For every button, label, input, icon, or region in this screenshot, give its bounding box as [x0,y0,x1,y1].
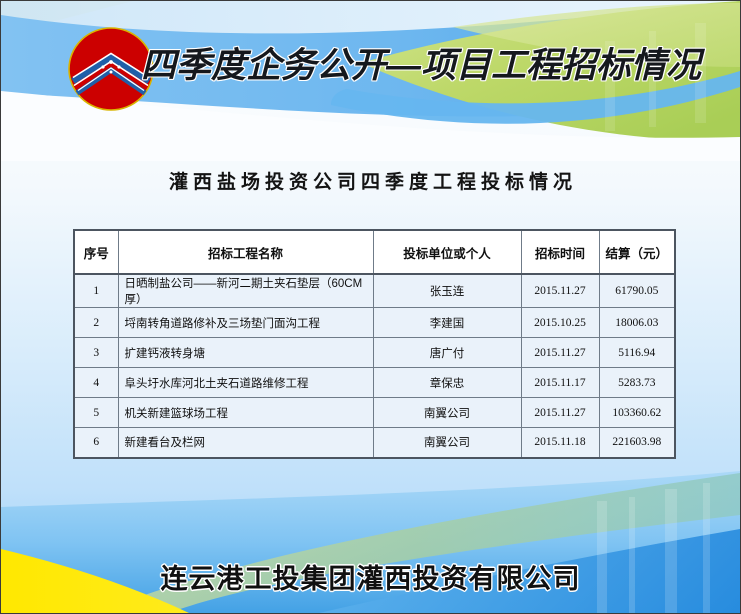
cell-bidder: 李建国 [373,308,521,338]
column-header-bidder: 投标单位或个人 [373,230,521,274]
table-row: 2 埒南转角道路修补及三场垫门面沟工程 李建国 2015.10.25 18006… [74,308,675,338]
footer-company-name: 连云港工投集团灌西投资有限公司 [1,557,740,596]
table-head: 序号 招标工程名称 投标单位或个人 招标时间 结算（元） [74,230,675,274]
table-body: 1 日晒制盐公司——新河二期土夹石垫层（60CM厚） 张玉连 2015.11.2… [74,274,675,458]
table-title: 灌西盐场投资公司四季度工程投标情况 [1,167,740,194]
cell-amount: 61790.05 [599,274,675,308]
cell-amount: 18006.03 [599,308,675,338]
cell-no: 4 [74,368,118,398]
cell-bidder: 南翼公司 [373,398,521,428]
header-banner: 四季度企务公开—项目工程招标情况 [1,1,740,141]
cell-name: 埒南转角道路修补及三场垫门面沟工程 [118,308,373,338]
banner-title: 四季度企务公开—项目工程招标情况 [141,39,681,93]
table-header-row: 序号 招标工程名称 投标单位或个人 招标时间 结算（元） [74,230,675,274]
cell-name: 新建看台及栏网 [118,428,373,458]
cell-no: 3 [74,338,118,368]
cell-no: 2 [74,308,118,338]
column-header-amount: 结算（元） [599,230,675,274]
cell-bidder: 唐广付 [373,338,521,368]
cell-name: 扩建钙液转身塘 [118,338,373,368]
column-header-no: 序号 [74,230,118,274]
bid-table: 序号 招标工程名称 投标单位或个人 招标时间 结算（元） 1 日晒制盐公司——新… [73,229,676,459]
cell-amount: 221603.98 [599,428,675,458]
table-row: 1 日晒制盐公司——新河二期土夹石垫层（60CM厚） 张玉连 2015.11.2… [74,274,675,308]
cell-amount: 103360.62 [599,398,675,428]
cell-bidder: 张玉连 [373,274,521,308]
cell-date: 2015.11.27 [521,398,599,428]
cell-date: 2015.11.17 [521,368,599,398]
column-header-name: 招标工程名称 [118,230,373,274]
poster-canvas: 四季度企务公开—项目工程招标情况 灌西盐场投资公司四季度工程投标情况 序号 招标… [0,0,741,614]
cell-no: 6 [74,428,118,458]
table-row: 4 阜头圩水库河北土夹石道路维修工程 章保忠 2015.11.17 5283.7… [74,368,675,398]
cell-date: 2015.11.27 [521,274,599,308]
table-row: 5 机关新建篮球场工程 南翼公司 2015.11.27 103360.62 [74,398,675,428]
cell-date: 2015.10.25 [521,308,599,338]
cell-amount: 5283.73 [599,368,675,398]
cell-no: 1 [74,274,118,308]
cell-bidder: 章保忠 [373,368,521,398]
cell-name: 日晒制盐公司——新河二期土夹石垫层（60CM厚） [118,274,373,308]
cell-date: 2015.11.18 [521,428,599,458]
table-row: 3 扩建钙液转身塘 唐广付 2015.11.27 5116.94 [74,338,675,368]
cell-no: 5 [74,398,118,428]
cell-amount: 5116.94 [599,338,675,368]
cell-name: 阜头圩水库河北土夹石道路维修工程 [118,368,373,398]
cell-name: 机关新建篮球场工程 [118,398,373,428]
cell-bidder: 南翼公司 [373,428,521,458]
cell-date: 2015.11.27 [521,338,599,368]
column-header-date: 招标时间 [521,230,599,274]
table-row: 6 新建看台及栏网 南翼公司 2015.11.18 221603.98 [74,428,675,458]
